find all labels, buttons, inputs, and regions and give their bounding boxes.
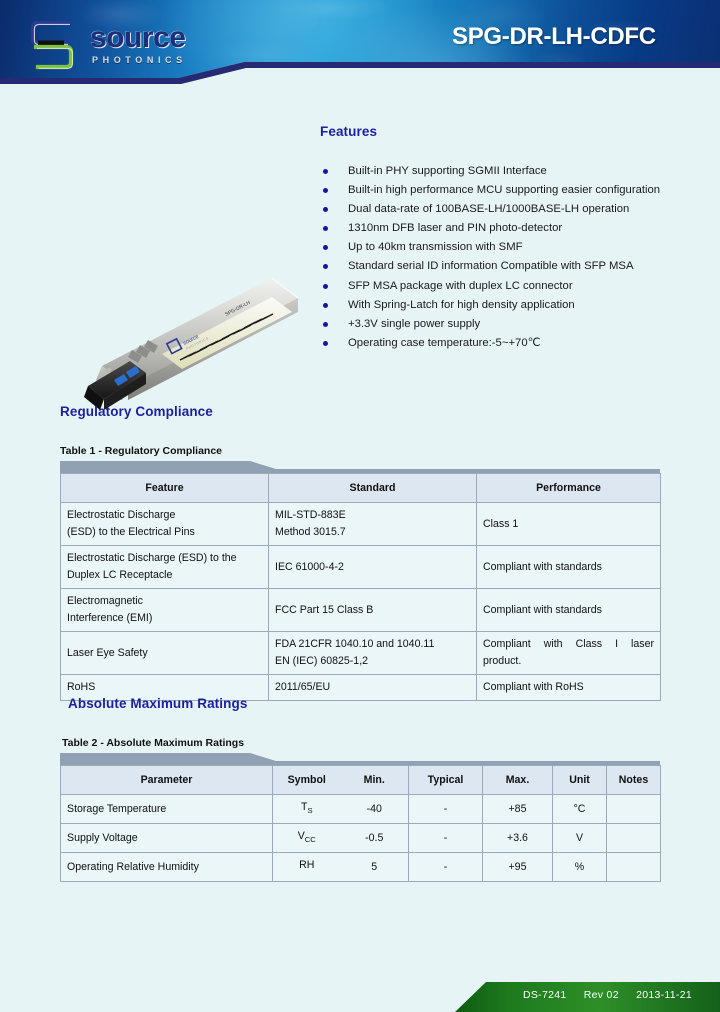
- table-row: Operating Relative Humidity RH 5 - +95 %: [61, 853, 661, 882]
- cell-unit: %: [553, 853, 607, 882]
- doc-date: 2013-11-21: [636, 989, 692, 1001]
- page-header: source PHOTONICS SPG-DR-LH-CDFC: [0, 0, 720, 90]
- cell-min: -0.5: [341, 824, 409, 853]
- feature-text: SFP MSA package with duplex LC connector: [348, 280, 573, 292]
- cell-symbol: VCC: [273, 824, 341, 853]
- column-header-typical: Typical: [409, 766, 483, 795]
- standard-line-1: MIL-STD-883E: [275, 509, 346, 521]
- cell-feature: Electromagnetic Interference (EMI): [61, 589, 269, 632]
- cell-typical: -: [409, 795, 483, 824]
- cell-min: 5: [341, 853, 409, 882]
- bullet-icon: [323, 245, 328, 250]
- ratings-table-block: Parameter Symbol Min. Typical Max. Unit …: [60, 753, 661, 882]
- bullet-icon: [323, 169, 328, 174]
- ratings-heading: Absolute Maximum Ratings: [68, 696, 247, 711]
- feature-line-1: Electrostatic Discharge (ESD) to the: [67, 552, 237, 564]
- table-row: Electrostatic Discharge (ESD) to the Dup…: [61, 546, 661, 589]
- feature-text: Standard serial ID information Compatibl…: [348, 260, 633, 272]
- table-header-row: Parameter Symbol Min. Typical Max. Unit …: [61, 766, 661, 795]
- column-header-max: Max.: [483, 766, 553, 795]
- feature-item: Built-in high performance MCU supporting…: [320, 181, 680, 200]
- cell-feature: Laser Eye Safety: [61, 632, 269, 675]
- footer-meta: DS-7241 Rev 02 2013-11-21: [523, 989, 692, 1001]
- feature-text: Operating case temperature:-5~+70℃: [348, 337, 540, 349]
- table-row: Laser Eye Safety FDA 21CFR 1040.10 and 1…: [61, 632, 661, 675]
- feature-line-2: Interference (EMI): [67, 612, 152, 624]
- bullet-icon: [323, 188, 328, 193]
- column-header-feature: Feature: [61, 474, 269, 503]
- cell-symbol: RH: [273, 853, 341, 882]
- feature-text: Built-in high performance MCU supporting…: [348, 181, 680, 200]
- cell-notes: [607, 824, 661, 853]
- ratings-table: Parameter Symbol Min. Typical Max. Unit …: [60, 765, 661, 882]
- feature-text: Built-in PHY supporting SGMII Interface: [348, 165, 547, 177]
- features-list: Built-in PHY supporting SGMII Interface …: [320, 162, 680, 353]
- table-decorative-bar: [60, 753, 660, 765]
- table-header-row: Feature Standard Performance: [61, 474, 661, 503]
- cell-standard: IEC 61000-4-2: [269, 546, 477, 589]
- feature-text: Up to 40km transmission with SMF: [348, 241, 523, 253]
- cell-unit: °C: [553, 795, 607, 824]
- standard-line-2: EN (IEC) 60825-1,2: [275, 655, 368, 667]
- logo-wordmark: source: [90, 23, 185, 53]
- cell-typical: -: [409, 853, 483, 882]
- cell-parameter: Storage Temperature: [61, 795, 273, 824]
- feature-text: With Spring-Latch for high density appli…: [348, 299, 575, 311]
- cell-performance: Compliant with standards: [477, 546, 661, 589]
- cell-parameter: Operating Relative Humidity: [61, 853, 273, 882]
- cell-max: +95: [483, 853, 553, 882]
- regulatory-table-caption: Table 1 - Regulatory Compliance: [60, 445, 222, 457]
- cell-feature: Electrostatic Discharge (ESD) to the Dup…: [61, 546, 269, 589]
- doc-revision: Rev 02: [584, 989, 619, 1001]
- feature-line-1: Electrostatic Discharge: [67, 509, 175, 521]
- feature-text: +3.3V single power supply: [348, 318, 480, 330]
- cell-performance: Compliant with RoHS: [477, 675, 661, 701]
- standard-line-2: Method 3015.7: [275, 526, 346, 538]
- bullet-icon: [323, 341, 328, 346]
- table-row: Supply Voltage VCC -0.5 - +3.6 V: [61, 824, 661, 853]
- source-photonics-s-icon: [28, 17, 76, 73]
- feature-item: Standard serial ID information Compatibl…: [320, 257, 680, 276]
- cell-standard: 2011/65/EU: [269, 675, 477, 701]
- ratings-table-caption: Table 2 - Absolute Maximum Ratings: [62, 737, 244, 749]
- feature-item: Up to 40km transmission with SMF: [320, 238, 680, 257]
- cell-standard: FCC Part 15 Class B: [269, 589, 477, 632]
- column-header-performance: Performance: [477, 474, 661, 503]
- bullet-icon: [323, 284, 328, 289]
- cell-min: -40: [341, 795, 409, 824]
- logo-subtitle: PHOTONICS: [92, 56, 187, 65]
- cell-max: +3.6: [483, 824, 553, 853]
- standard-line-1: FDA 21CFR 1040.10 and 1040.11: [275, 638, 434, 650]
- regulatory-heading: Regulatory Compliance: [60, 404, 213, 419]
- bullet-icon: [323, 264, 328, 269]
- company-logo: source PHOTONICS: [28, 17, 238, 75]
- product-title: SPG-DR-LH-CDFC: [452, 23, 656, 51]
- column-header-parameter: Parameter: [61, 766, 273, 795]
- bullet-icon: [323, 303, 328, 308]
- cell-feature: Electrostatic Discharge (ESD) to the Ele…: [61, 503, 269, 546]
- regulatory-table: Feature Standard Performance Electrostat…: [60, 473, 661, 701]
- cell-standard: MIL-STD-883E Method 3015.7: [269, 503, 477, 546]
- table-row: Electromagnetic Interference (EMI) FCC P…: [61, 589, 661, 632]
- table-row: Electrostatic Discharge (ESD) to the Ele…: [61, 503, 661, 546]
- column-header-symbol: Symbol: [273, 766, 341, 795]
- bullet-icon: [323, 322, 328, 327]
- cell-max: +85: [483, 795, 553, 824]
- feature-item: Operating case temperature:-5~+70℃: [320, 334, 680, 353]
- page-footer: DS-7241 Rev 02 2013-11-21: [0, 978, 720, 1012]
- feature-line-1: Electromagnetic: [67, 595, 143, 607]
- cell-typical: -: [409, 824, 483, 853]
- table-decorative-bar: [60, 461, 660, 473]
- feature-item: +3.3V single power supply: [320, 315, 680, 334]
- cell-parameter: Supply Voltage: [61, 824, 273, 853]
- column-header-unit: Unit: [553, 766, 607, 795]
- table-row: Storage Temperature TS -40 - +85 °C: [61, 795, 661, 824]
- feature-line-2: (ESD) to the Electrical Pins: [67, 526, 195, 538]
- cell-symbol: TS: [273, 795, 341, 824]
- feature-item: SFP MSA package with duplex LC connector: [320, 277, 680, 296]
- column-header-notes: Notes: [607, 766, 661, 795]
- cell-performance: Class 1: [477, 503, 661, 546]
- feature-item: Built-in PHY supporting SGMII Interface: [320, 162, 680, 181]
- feature-line-2: Duplex LC Receptacle: [67, 569, 172, 581]
- column-header-min: Min.: [341, 766, 409, 795]
- doc-number: DS-7241: [523, 989, 567, 1001]
- bullet-icon: [323, 226, 328, 231]
- regulatory-table-block: Feature Standard Performance Electrostat…: [60, 461, 661, 701]
- cell-performance: Compliant with Class I laser product.: [477, 632, 661, 675]
- cell-standard: FDA 21CFR 1040.10 and 1040.11 EN (IEC) 6…: [269, 632, 477, 675]
- bullet-icon: [323, 207, 328, 212]
- cell-notes: [607, 853, 661, 882]
- cell-unit: V: [553, 824, 607, 853]
- feature-item: Dual data-rate of 100BASE-LH/1000BASE-LH…: [320, 200, 680, 219]
- feature-item: 1310nm DFB laser and PIN photo-detector: [320, 219, 680, 238]
- features-heading: Features: [320, 124, 377, 139]
- column-header-standard: Standard: [269, 474, 477, 503]
- feature-item: With Spring-Latch for high density appli…: [320, 296, 680, 315]
- feature-text: 1310nm DFB laser and PIN photo-detector: [348, 222, 562, 234]
- feature-text: Dual data-rate of 100BASE-LH/1000BASE-LH…: [348, 203, 629, 215]
- cell-performance: Compliant with standards: [477, 589, 661, 632]
- cell-notes: [607, 795, 661, 824]
